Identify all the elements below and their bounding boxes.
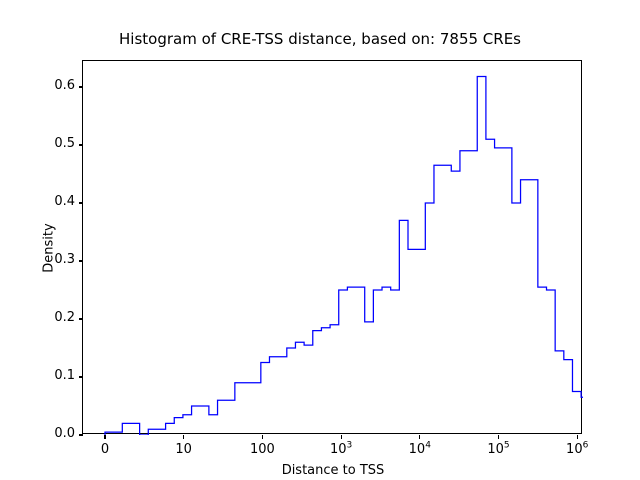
y-tick-label: 0.4	[15, 194, 75, 209]
y-tick-mark	[79, 86, 83, 87]
y-tick-label: 0.6	[15, 78, 75, 93]
x-tick-label: 104	[380, 442, 460, 457]
y-tick-label: 0.5	[15, 136, 75, 151]
x-tick-label: 103	[301, 442, 381, 457]
x-tick-label: 100	[222, 442, 302, 457]
y-tick-label: 0.3	[15, 252, 75, 267]
y-tick-label: 0.2	[15, 310, 75, 325]
x-tick-label: 10	[144, 442, 224, 457]
y-tick-mark	[79, 376, 83, 377]
y-tick-mark	[79, 202, 83, 203]
x-tick-label: 105	[459, 442, 539, 457]
x-tick-mark	[262, 435, 263, 439]
y-tick-mark	[79, 144, 83, 145]
plot-area: Density Distance to TSS 0.00.10.20.30.40…	[82, 60, 582, 434]
x-tick-mark	[341, 435, 342, 439]
x-axis-label: Distance to TSS	[83, 463, 583, 478]
x-tick-mark	[577, 435, 578, 439]
histogram-outline-path	[105, 77, 583, 435]
y-tick-label: 0.0	[15, 426, 75, 441]
x-tick-mark	[183, 435, 184, 439]
x-tick-mark	[498, 435, 499, 439]
chart-title: Histogram of CRE-TSS distance, based on:…	[0, 30, 640, 48]
y-tick-label: 0.1	[15, 368, 75, 383]
y-tick-mark	[79, 318, 83, 319]
y-tick-mark	[79, 260, 83, 261]
y-tick-mark	[79, 434, 83, 435]
figure-canvas: Histogram of CRE-TSS distance, based on:…	[0, 0, 640, 480]
x-tick-mark	[104, 435, 105, 439]
x-tick-label: 0	[65, 442, 145, 457]
histogram-step-line	[83, 61, 583, 435]
x-tick-label: 106	[537, 442, 617, 457]
x-tick-mark	[419, 435, 420, 439]
